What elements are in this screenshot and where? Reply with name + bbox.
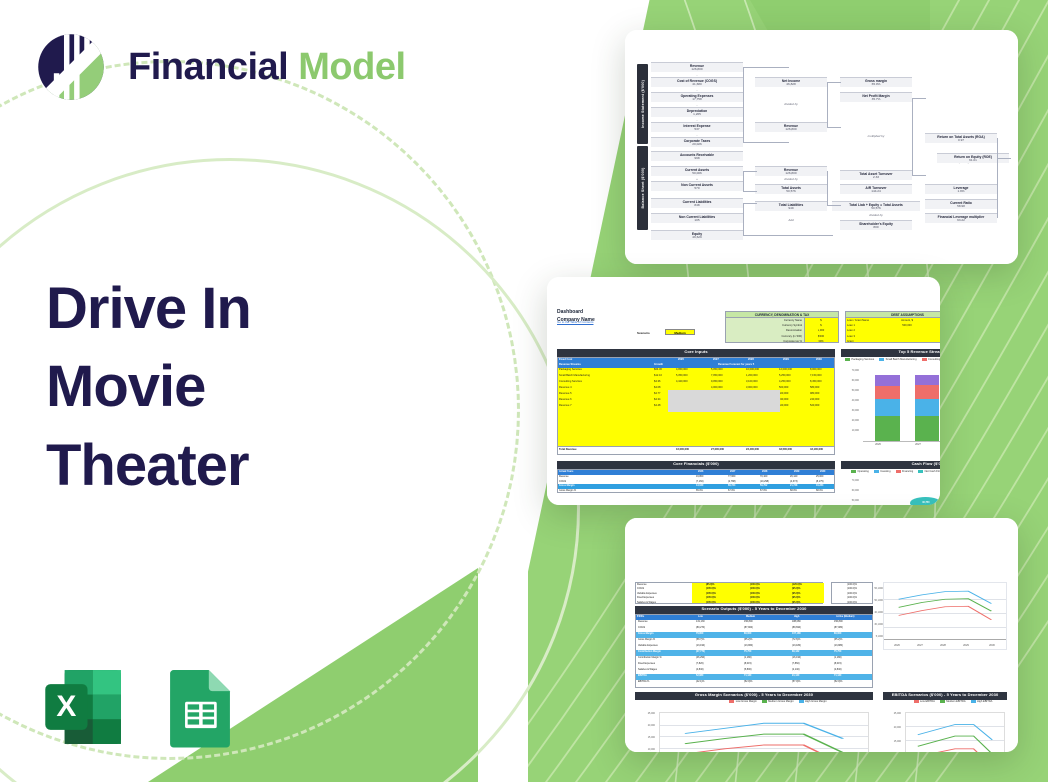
row-value: (13,980) — [834, 644, 843, 647]
row-value: (42.1)% — [696, 680, 704, 683]
row-label: EBITDA % — [638, 680, 649, 683]
poster-canvas: Financial Model Drive In Movie Theater X — [0, 0, 1048, 782]
scenario-label: Scenario — [637, 331, 650, 335]
flow-node: Current Liabilities848 — [651, 198, 743, 208]
row-value: 80,600 — [834, 632, 841, 635]
table-row: EBITDA %(42.1)%(52.0)%(57.0)%(52.0)% — [636, 680, 872, 686]
legend-item: Medium Gross Margin — [762, 700, 794, 703]
data-label: 40,750 — [910, 497, 940, 505]
flow-node: Corporate Taxes20,026 — [651, 137, 743, 147]
legend-item: Net Cash Flow — [918, 470, 940, 473]
flow-node: Financial Leverage multiplier63.22 — [925, 213, 997, 223]
row-label: Contribution Margin — [638, 650, 661, 653]
gross-margin-scenarios-chart: Low Gross Margin Medium Gross Margin Hig… — [635, 706, 873, 738]
scenario-outputs-screenshot[interactable]: Revenue COGS Variable Expenses Fixed Exp… — [625, 518, 1018, 752]
row-value: (27,770) — [696, 650, 705, 653]
row-value: (65.2)% — [744, 638, 752, 641]
row-value: 70,100 — [760, 475, 767, 478]
row-value: 71,130 — [744, 674, 751, 677]
legend-item: High Gross Margin — [799, 700, 827, 703]
row-label: COGS — [638, 626, 645, 629]
row-value: (87,900) — [744, 626, 753, 629]
row-value: 16,234 — [816, 484, 823, 487]
ebitda-scenarios-chart: Low EBITDA Medium EBITDA High EBITDA 25,… — [883, 706, 1007, 738]
balance-sheet-spine: Balance Sheet ($'000) — [637, 146, 648, 230]
revenue-scenarios-chart: 56,1000 50,1000 40,1000 30,1000 5,1000 2… — [883, 582, 1007, 650]
row-value: 131,130 — [696, 620, 705, 623]
flow-node: Total Liabilities949 — [755, 201, 827, 211]
flow-node: Net Income46,828 — [755, 77, 827, 87]
table-of-contents-link[interactable]: Go to the Table of Contents — [557, 320, 593, 324]
flow-node: Depreciation1,265 — [651, 107, 743, 117]
row-label: Gross Margin — [638, 632, 653, 635]
section-core-financials: Core Financials ($'000) — [557, 461, 835, 469]
row-value: 107,188 — [792, 632, 801, 635]
scenario-outputs-table: $'000s Low Medium High Active (Medium) R… — [635, 614, 873, 688]
row-label: Variable Expenses — [638, 644, 658, 647]
row-label: EBITDA — [638, 674, 647, 677]
row-value: (1,180) — [834, 656, 842, 659]
cash-flow-chart: Operating Investing Financing Net Cash F… — [841, 469, 940, 493]
core-financials-table: Actual Years 2026 2027 2028 2029 2030 Re… — [557, 469, 835, 493]
legend-item: Low Gross Margin — [729, 700, 756, 703]
row-value: (8,015) — [834, 662, 842, 665]
panel-debt-assumptions: DEBT ASSUMPTIONS Loan / Grant Name Loan … — [845, 311, 940, 343]
row-value: (58.7)% — [696, 638, 704, 641]
row-value: (10,298) — [760, 480, 769, 483]
flow-node: A/R Turnover144.24 — [840, 184, 912, 194]
row-value: (87,080) — [834, 626, 843, 629]
row-label: Salaries & Wages — [638, 668, 657, 671]
legend-item: Packaging Services — [845, 358, 874, 361]
row-value: 59,702 — [760, 484, 767, 487]
row-value: 13,640 — [696, 484, 703, 487]
brand-name: Financial Model — [128, 46, 406, 89]
row-value: (89,690) — [792, 626, 801, 629]
legend-item: High EBITDA — [971, 700, 993, 703]
row-value: (8,175) — [816, 480, 824, 483]
row-label: Contribution Margin % — [638, 656, 662, 659]
row-value: (4,373) — [790, 480, 798, 483]
section-core-inputs: Core Inputs — [557, 349, 835, 357]
scenario-body: Revenue COGS Variable Expenses Fixed Exp… — [635, 544, 1008, 738]
file-format-icons: X — [40, 663, 244, 751]
legend-item: Medium EBITDA — [940, 700, 966, 703]
flowchart-diagram: Income Statement ($'000) Balance Sheet (… — [637, 58, 1010, 242]
row-value: (7,860) — [792, 662, 800, 665]
row-value: 66,724 — [728, 484, 735, 487]
row-value: 67.0% — [728, 489, 735, 492]
row-value: (72.6)% — [792, 638, 800, 641]
row-label: Gross Margin % — [559, 489, 576, 492]
google-sheets-icon[interactable] — [156, 663, 244, 751]
flow-node: Operating Expenses17,758 — [651, 92, 743, 102]
microsoft-excel-icon[interactable]: X — [40, 663, 128, 751]
row-value: 26,120 — [790, 475, 797, 478]
section-cash-flow: Cash Flow ($'000) - 5 Years to December … — [841, 461, 940, 469]
row-value: 156,800 — [744, 620, 753, 623]
page-title-line-2: Movie — [46, 348, 251, 426]
scenario-assumptions-table: Revenue COGS Variable Expenses Fixed Exp… — [635, 582, 823, 604]
dashboard-body: Dashboard Company Name Go to the Table o… — [557, 309, 930, 493]
row-value: (7,160) — [696, 480, 704, 483]
row-value: (65.2)% — [834, 638, 842, 641]
row-value: 77,660 — [728, 475, 735, 478]
section-scenario-outputs: Scenario Outputs ($'000) - 5 Years to De… — [635, 606, 873, 614]
legend-item: Consulting Services — [922, 358, 940, 361]
row-value: 25,000 — [816, 475, 823, 478]
brand-name-financial: Financial — [128, 46, 298, 88]
section-top-5-revenue-streams: Top 5 Revenue Streams ($'000) - 5 Years … — [841, 349, 940, 357]
row-value: (16,190) — [792, 656, 801, 659]
flow-node: Revenue126,800 — [651, 62, 743, 72]
flow-node: Current Assets50,006 — [651, 166, 743, 176]
income-statement-spine: Income Statement ($'000) — [637, 64, 648, 144]
panel-currency-denomination-tax: CURRENCY, DENOMINATION & TAX Currency Na… — [725, 311, 839, 343]
row-value: (2,140) — [792, 668, 800, 671]
row-value: (13,190) — [696, 644, 705, 647]
row-value: 68.0% — [790, 489, 797, 492]
row-value: 91,130 — [792, 674, 799, 677]
flow-node: Leverage1.9% — [925, 184, 997, 194]
row-value: (46,290) — [696, 656, 705, 659]
section-gross-margin-scenarios: Gross Margin Scenarios ($'000) - 5 Years… — [635, 692, 873, 700]
flow-node: Non Current Assets570 — [651, 181, 743, 191]
scenario-selector[interactable]: Medium — [665, 329, 695, 335]
flow-node: Revenue126,800 — [755, 122, 827, 132]
flow-node: Current Ratio58.98 — [925, 199, 997, 209]
balance-sheet-spine-label: Balance Sheet ($'000) — [641, 167, 645, 208]
page-title-line-3: Theater — [46, 427, 251, 505]
row-value: 75,750 — [834, 650, 841, 653]
flow-node: Interest Expense537 — [651, 122, 743, 132]
flow-node: Net Profit Margin35.7% — [840, 92, 912, 102]
row-value: (80,270) — [696, 626, 705, 629]
scenario-active-column: (100.0)% (100.0)% (100.0)% (100.0)% (100… — [831, 582, 873, 604]
row-value: 71,130 — [834, 674, 841, 677]
flow-node: Return on Total Assets (ROA)0.97 — [925, 133, 997, 143]
legend-item: Financing — [896, 470, 914, 473]
flow-node: Non Current Liabilities105 — [651, 213, 743, 223]
row-value: (57.0)% — [792, 680, 800, 683]
row-value: (1,180) — [744, 656, 752, 659]
row-value: (2,788) — [728, 480, 736, 483]
flow-node: Shareholder's Equity800 — [840, 220, 912, 230]
dashboard-screenshot[interactable]: Dashboard Company Name Go to the Table o… — [547, 277, 940, 505]
flow-node: Gross margin65.0% — [840, 77, 912, 87]
flow-node: Cost of Revenue (COGS)41,680 — [651, 77, 743, 87]
row-value: (13,180) — [792, 644, 801, 647]
legend-item: Low EBITDA — [914, 700, 935, 703]
flow-node: Total Liab + Equity = Total Assets50,576 — [832, 201, 920, 211]
flow-node: Total Assets50,576 — [755, 184, 827, 194]
row-label: Fixed Expenses — [638, 662, 655, 665]
brand-name-model: Model — [298, 46, 405, 88]
legend-item: Operating — [851, 470, 869, 473]
core-inputs-table: Fixed Cost 2026 2027 2028 2029 2030 Reve… — [557, 357, 835, 455]
legend-item: Investing — [874, 470, 891, 473]
pie-bar-chart-logo-icon — [32, 28, 110, 106]
row-label: COGS — [559, 480, 566, 483]
row-value: 67.0% — [760, 489, 767, 492]
svg-text:X: X — [56, 690, 76, 723]
row-value: (8,015) — [744, 662, 752, 665]
row-label: Revenue — [559, 475, 569, 478]
flow-node: Accounts Receivable998 — [651, 151, 743, 161]
row-value: 52,880 — [696, 674, 703, 677]
row-value: 80,600 — [744, 632, 751, 635]
row-value: (7,820) — [696, 662, 704, 665]
financial-statement-flowchart-screenshot[interactable]: Income Statement ($'000) Balance Sheet (… — [625, 30, 1018, 264]
row-value: 16,800 — [696, 475, 703, 478]
row-value: (4,840) — [696, 668, 704, 671]
section-ebitda-scenarios: EBITDA Scenarios ($'000) - 5 Years to De… — [883, 692, 1007, 700]
row-value: (52.0)% — [834, 680, 842, 683]
page-title: Drive In Movie Theater — [46, 270, 251, 505]
row-value: (13,960) — [744, 644, 753, 647]
row-label: Revenue — [638, 620, 648, 623]
income-statement-spine-label: Income Statement ($'000) — [641, 80, 645, 128]
brand-logo[interactable]: Financial Model — [32, 28, 406, 106]
table-row: Gross Margin %65.0%67.0%67.0%68.0%68.0% — [558, 489, 834, 493]
row-value: 65.0% — [696, 489, 703, 492]
flow-node: Revenue126,800 — [755, 166, 827, 176]
row-value: 80,132 — [792, 650, 799, 653]
flow-node: Equity49,629 — [651, 230, 743, 240]
row-label: Gross Margin — [559, 484, 574, 487]
top-5-revenue-streams-chart: Packaging Services Small Batch Manufactu… — [841, 357, 940, 455]
row-value: 188,080 — [792, 620, 801, 623]
row-value: 76,800 — [696, 632, 703, 635]
legend-item: Small Batch Manufacturing — [879, 358, 916, 361]
page-title-line-1: Drive In — [46, 270, 251, 348]
row-label: Gross Margin % — [638, 638, 655, 641]
row-value: (2,840) — [834, 668, 842, 671]
row-value: 21,748 — [790, 484, 797, 487]
row-value: (52.0)% — [744, 680, 752, 683]
flow-node: Total Asset Turnover2.33 — [840, 170, 912, 180]
row-value: (5,800) — [744, 668, 752, 671]
row-value: 156,800 — [834, 620, 843, 623]
row-value: 75,750 — [744, 650, 751, 653]
row-value: 68.0% — [816, 489, 823, 492]
